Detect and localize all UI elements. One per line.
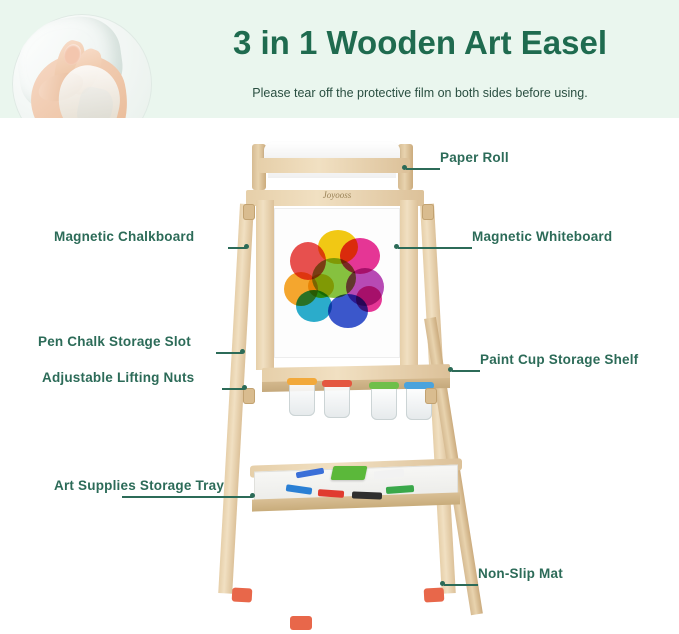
page-title: 3 in 1 Wooden Art Easel	[170, 24, 670, 62]
callout-non-slip-mat: Non-Slip Mat	[478, 566, 563, 581]
leader-paper-roll	[406, 168, 440, 170]
adjustable-lifting-nut-right	[425, 388, 437, 404]
leader-paint-cup-storage-shelf	[452, 370, 480, 372]
leader-dot	[440, 581, 445, 586]
adjustable-lifting-nut-left	[243, 388, 255, 404]
adjustable-lifting-nut-upper-right	[422, 204, 434, 220]
leader-dot	[402, 165, 407, 170]
callout-paint-cup-storage-shelf: Paint Cup Storage Shelf	[480, 352, 638, 367]
leader-magnetic-whiteboard	[398, 247, 472, 249]
non-slip-mat-right	[424, 587, 445, 602]
leader-adjustable-lifting-nuts	[222, 388, 244, 390]
paint-cup	[324, 384, 350, 418]
callout-pen-chalk-storage-slot: Pen Chalk Storage Slot	[38, 334, 191, 349]
leader-dot	[242, 385, 247, 390]
leader-dot	[448, 367, 453, 372]
callout-art-supplies-storage-tray: Art Supplies Storage Tray	[54, 478, 224, 493]
product-photo: Joyooss Paper Roll Magnetic Wh	[0, 118, 679, 634]
leader-non-slip-mat	[444, 584, 478, 586]
non-slip-mat-back	[290, 616, 312, 630]
paint-cup	[289, 382, 315, 416]
paint-cup	[371, 386, 397, 420]
callout-paper-roll: Paper Roll	[440, 150, 509, 165]
eraser-green	[331, 466, 368, 480]
callout-magnetic-chalkboard: Magnetic Chalkboard	[54, 229, 194, 244]
leader-art-supplies-storage-tray	[122, 496, 252, 498]
easel-frame-right	[400, 200, 418, 370]
callout-magnetic-whiteboard: Magnetic Whiteboard	[472, 229, 612, 244]
brand-logo: Joyooss	[290, 190, 384, 200]
easel-frame-left	[256, 200, 274, 370]
paper-roll-bar	[258, 158, 410, 173]
leader-dot	[240, 349, 245, 354]
banner-subtitle: Please tear off the protective film on b…	[170, 86, 670, 100]
top-banner: 3 in 1 Wooden Art Easel Please tear off …	[0, 0, 679, 118]
callout-adjustable-lifting-nuts: Adjustable Lifting Nuts	[42, 370, 194, 385]
paint-splash-artwork	[282, 228, 394, 338]
leader-dot	[250, 493, 255, 498]
non-slip-mat-left	[232, 587, 253, 602]
marker-black	[352, 491, 382, 499]
adjustable-lifting-nut-upper-left	[243, 204, 255, 220]
leader-dot	[394, 244, 399, 249]
leader-dot	[244, 244, 249, 249]
leader-pen-chalk-storage-slot	[216, 352, 242, 354]
